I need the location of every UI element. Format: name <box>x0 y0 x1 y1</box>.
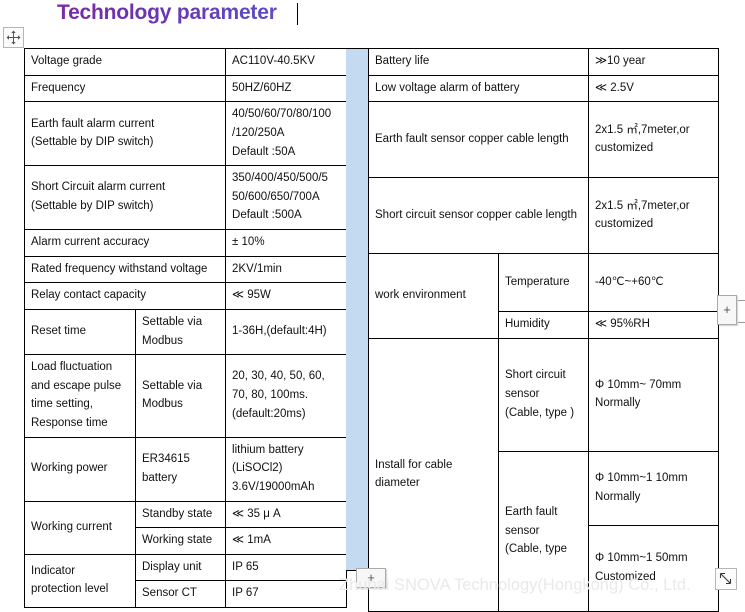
value-line: 3.6V/19000mAh <box>232 478 340 497</box>
label-line: and escape pulse <box>31 377 129 396</box>
page-title: Technology parameter <box>57 1 277 25</box>
param-label: Short Circuit alarm current (Settable by… <box>25 166 226 230</box>
table-row[interactable]: Install for cable diameter Short circuit… <box>369 338 719 451</box>
param-value: AC110V-40.5KV <box>226 49 347 76</box>
text-cursor <box>297 3 298 25</box>
sublabel-line: Settable via <box>142 313 219 332</box>
param-label: Working power <box>25 437 136 501</box>
value-line: IP 65 <box>232 558 340 577</box>
param-value: Φ 10mm~1 50mm Customized <box>589 525 719 611</box>
label-line: (Settable by DIP switch) <box>31 133 219 152</box>
value-line: Φ 10mm~1 10mm <box>595 469 712 488</box>
param-label: Alarm current accuracy <box>25 230 226 257</box>
sublabel-line: Modbus <box>142 332 219 351</box>
param-label: Reset time <box>25 309 136 354</box>
param-value: 1-36H,(default:4H) <box>226 309 347 354</box>
label-line: diameter <box>375 474 492 493</box>
insert-column-button[interactable]: + <box>717 295 737 325</box>
param-value: 40/50/60/70/80/100 /120/250A Default :50… <box>226 102 347 166</box>
scroll-tick <box>738 300 745 301</box>
param-label: Earth fault sensor copper cable length <box>369 102 589 178</box>
param-sublabel: Settable via Modbus <box>136 355 226 438</box>
value-line: Default :500A <box>232 206 340 225</box>
param-label: Working current <box>25 501 136 554</box>
table-row[interactable]: Short circuit sensor copper cable length… <box>369 178 719 254</box>
param-value: 2x1.5 ㎡,7meter,or customized <box>589 102 719 178</box>
table-row[interactable]: Earth fault alarm current (Settable by D… <box>25 102 347 166</box>
value-line: customized <box>595 139 712 158</box>
value-line: Normally <box>595 394 712 413</box>
value-line: 1-36H,(default:4H) <box>232 322 340 341</box>
param-value: ≪ 95W <box>226 283 347 310</box>
table-row[interactable]: Voltage grade AC110V-40.5KV <box>25 49 347 76</box>
table-row[interactable]: Reset time Settable via Modbus 1-36H,(de… <box>25 309 347 354</box>
table-row[interactable]: Low voltage alarm of battery ≪ 2.5V <box>369 75 719 102</box>
sublabel-line: sensor <box>505 385 582 404</box>
param-value: ± 10% <box>226 230 347 257</box>
value-line: Normally <box>595 488 712 507</box>
value-line: lithium battery <box>232 441 340 460</box>
param-label: Battery life <box>369 49 589 76</box>
param-sublabel: Short circuit sensor (Cable, type ) <box>499 338 589 451</box>
value-line: /120/250A <box>232 124 340 143</box>
param-label: Rated frequency withstand voltage <box>25 256 226 283</box>
table-row[interactable]: Battery life ≫10 year <box>369 49 719 76</box>
param-sublabel: ER34615 battery <box>136 437 226 501</box>
value-line: -40℃~+60℃ <box>595 273 712 292</box>
param-label: Indicator protection level <box>25 554 136 607</box>
param-value: 2KV/1min <box>226 256 347 283</box>
value-line: ≪ 95W <box>232 286 340 305</box>
param-value: IP 67 <box>226 581 347 608</box>
value-line: 2x1.5 ㎡,7meter,or <box>595 121 712 140</box>
move-table-handle[interactable] <box>3 27 24 48</box>
selected-table-column[interactable] <box>346 48 368 571</box>
label-line: Load fluctuation <box>31 358 129 377</box>
param-label: work environment <box>369 254 499 339</box>
sublabel-line: (Cable, type <box>505 540 582 559</box>
param-value: Φ 10mm~1 10mm Normally <box>589 451 719 525</box>
param-label: Relay contact capacity <box>25 283 226 310</box>
sublabel-line: sensor <box>505 522 582 541</box>
footer-watermark: Zhuhai SNOVA Technology(Hongkong) Co., L… <box>339 576 691 595</box>
param-sublabel: Working state <box>136 528 226 555</box>
param-sublabel: Humidity <box>499 312 589 339</box>
param-value: 50HZ/60HZ <box>226 75 347 102</box>
label-line: time setting, <box>31 395 129 414</box>
param-sublabel: Temperature <box>499 254 589 312</box>
table-row[interactable]: Rated frequency withstand voltage 2KV/1m… <box>25 256 347 283</box>
param-sublabel: Sensor CT <box>136 581 226 608</box>
label-line: Earth fault alarm current <box>31 115 219 134</box>
param-label: Voltage grade <box>25 49 226 76</box>
param-value: 2x1.5 ㎡,7meter,or customized <box>589 178 719 254</box>
value-line: 2KV/1min <box>232 260 340 279</box>
param-sublabel: Display unit <box>136 554 226 581</box>
label-line: Short Circuit alarm current <box>31 178 219 197</box>
table-row[interactable]: Working power ER34615 battery lithium ba… <box>25 437 347 501</box>
param-value: ≪ 2.5V <box>589 75 719 102</box>
sublabel-line: Modbus <box>142 395 219 414</box>
resize-table-handle[interactable] <box>715 568 737 590</box>
value-line: Φ 10mm~1 50mm <box>595 549 712 568</box>
param-value: ≪ 35 μ A <box>226 501 347 528</box>
table-row[interactable]: Short Circuit alarm current (Settable by… <box>25 166 347 230</box>
technology-parameter-table-left[interactable]: Voltage grade AC110V-40.5KV Frequency 50… <box>24 48 347 608</box>
sublabel-line: battery <box>142 469 219 488</box>
param-label: Load fluctuation and escape pulse time s… <box>25 355 136 438</box>
technology-parameter-table-right[interactable]: Battery life ≫10 year Low voltage alarm … <box>368 48 719 612</box>
value-line: ≪ 95%RH <box>595 315 712 334</box>
value-line: Φ 10mm~ 70mm <box>595 376 712 395</box>
move-cross-icon <box>4 28 23 47</box>
param-sublabel: Standby state <box>136 501 226 528</box>
param-sublabel: Settable via Modbus <box>136 309 226 354</box>
label-line: Response time <box>31 414 129 433</box>
table-row[interactable]: Earth fault sensor copper cable length 2… <box>369 102 719 178</box>
table-row[interactable]: Relay contact capacity ≪ 95W <box>25 283 347 310</box>
value-line: ≪ 1mA <box>232 531 340 550</box>
param-label: Short circuit sensor copper cable length <box>369 178 589 254</box>
label-line: Indicator <box>31 562 129 581</box>
table-row[interactable]: Load fluctuation and escape pulse time s… <box>25 355 347 438</box>
value-line: 70, 80, 100ms. <box>232 386 340 405</box>
param-value: ≪ 1mA <box>226 528 347 555</box>
param-label: Earth fault alarm current (Settable by D… <box>25 102 226 166</box>
value-line: 350/400/450/500/5 <box>232 169 340 188</box>
param-value: 350/400/450/500/5 50/600/650/700A Defaul… <box>226 166 347 230</box>
value-line: (LiSOCl2) <box>232 459 340 478</box>
param-label: Low voltage alarm of battery <box>369 75 589 102</box>
param-value: lithium battery (LiSOCl2) 3.6V/19000mAh <box>226 437 347 501</box>
value-line: ≪ 35 μ A <box>232 505 340 524</box>
label-line: Install for cable <box>375 456 492 475</box>
sublabel-line: (Cable, type ) <box>505 404 582 423</box>
table-row[interactable]: Indicator protection level Display unit … <box>25 554 347 581</box>
value-line: 2x1.5 ㎡,7meter,or <box>595 197 712 216</box>
param-value: -40℃~+60℃ <box>589 254 719 312</box>
value-line: ± 10% <box>232 233 340 252</box>
sublabel-line: ER34615 <box>142 450 219 469</box>
value-line: 20, 30, 40, 50, 60, <box>232 367 340 386</box>
scroll-tick <box>738 322 745 323</box>
param-label: Install for cable diameter <box>369 338 499 611</box>
value-line: ≫10 year <box>595 52 712 71</box>
param-value: 20, 30, 40, 50, 60, 70, 80, 100ms. (defa… <box>226 355 347 438</box>
value-line: IP 67 <box>232 584 340 603</box>
label-line: protection level <box>31 580 129 599</box>
table-row[interactable]: Working current Standby state ≪ 35 μ A <box>25 501 347 528</box>
param-value: ≪ 95%RH <box>589 312 719 339</box>
param-value: IP 65 <box>226 554 347 581</box>
value-line: (default:20ms) <box>232 405 340 424</box>
value-line: 50HZ/60HZ <box>232 79 340 98</box>
value-line: 50/600/650/700A <box>232 188 340 207</box>
param-label: Frequency <box>25 75 226 102</box>
sublabel-line: Short circuit <box>505 366 582 385</box>
value-line: AC110V-40.5KV <box>232 52 340 71</box>
param-value: Φ 10mm~ 70mm Normally <box>589 338 719 451</box>
sublabel-line: Settable via <box>142 377 219 396</box>
label-line: (Settable by DIP switch) <box>31 197 219 216</box>
resize-diagonal-icon <box>716 569 736 589</box>
table-row[interactable]: Alarm current accuracy ± 10% <box>25 230 347 257</box>
value-line: ≪ 2.5V <box>595 79 712 98</box>
value-line: customized <box>595 215 712 234</box>
value-line: Default :50A <box>232 143 340 162</box>
table-row[interactable]: Frequency 50HZ/60HZ <box>25 75 347 102</box>
param-value: ≫10 year <box>589 49 719 76</box>
table-row[interactable]: work environment Temperature -40℃~+60℃ <box>369 254 719 312</box>
value-line: 40/50/60/70/80/100 <box>232 105 340 124</box>
sublabel-line: Earth fault <box>505 503 582 522</box>
